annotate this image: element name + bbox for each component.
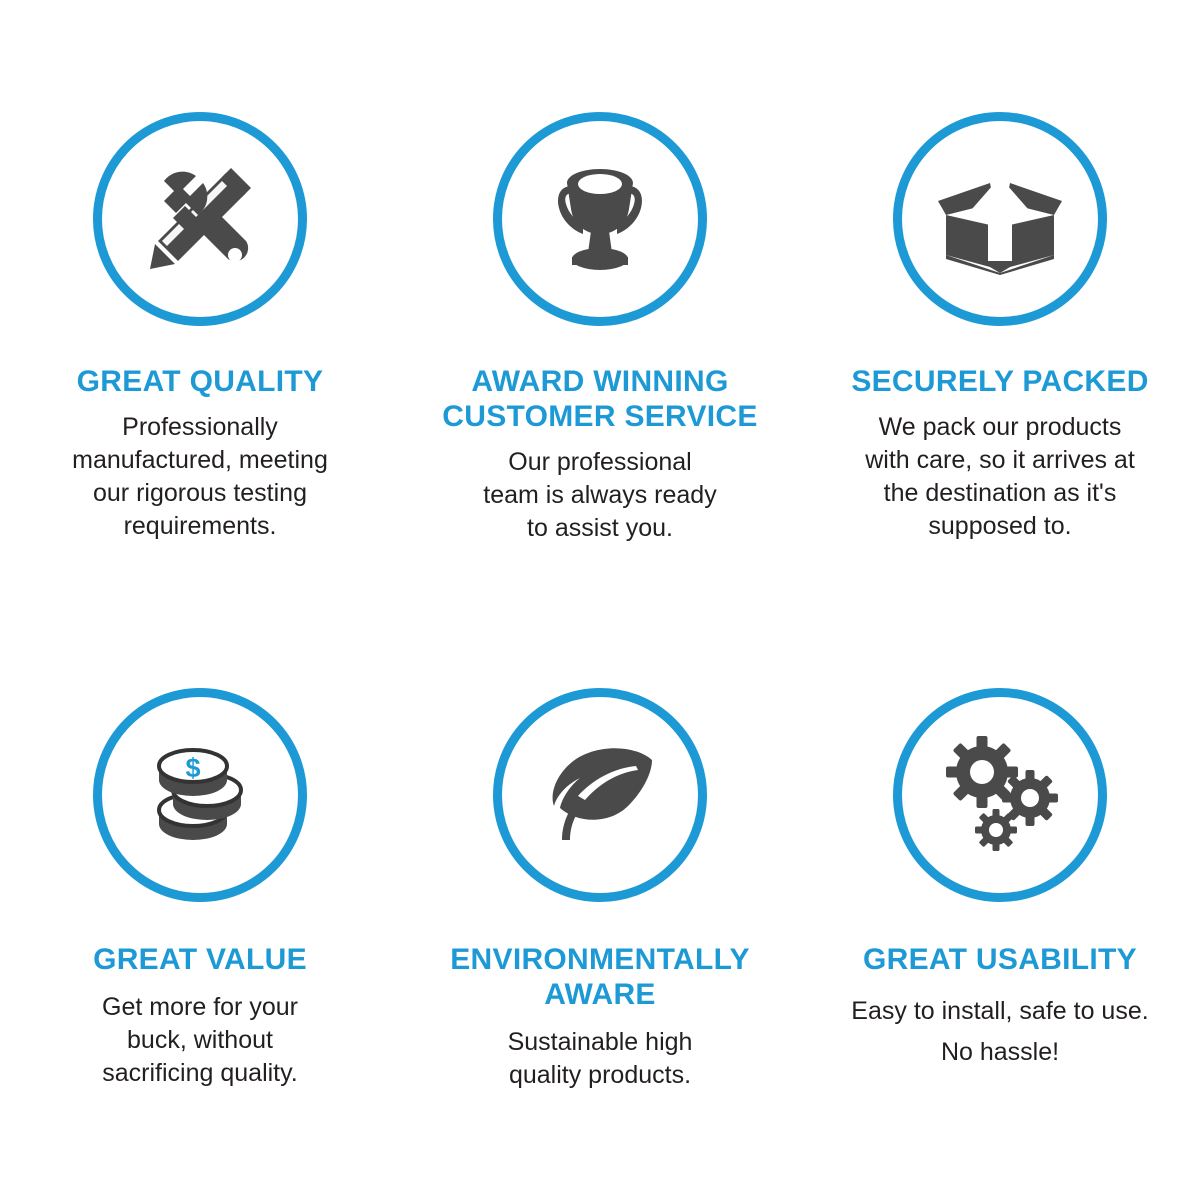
feature-grid: GREAT QUALITY Professionally manufacture… [0,0,1200,1200]
feature-title: SECURELY PACKED [830,364,1170,399]
feature-securely-packed: SECURELY PACKED We pack our products wit… [800,0,1200,600]
feature-title: AWARD WINNING CUSTOMER SERVICE [410,364,790,434]
open-box-icon [936,163,1064,275]
feature-great-value: $ GREAT VALUE Get more for your buck, wi… [0,600,400,1200]
badge-circle-environmentally-aware [493,688,707,902]
feature-great-quality: GREAT QUALITY Professionally manufacture… [0,0,400,600]
badge-circle-securely-packed [893,112,1107,326]
leaf-icon [540,740,660,850]
feature-description: Easy to install, safe to use. No hassle! [830,991,1170,1074]
wrench-and-pencil-icon [138,157,262,281]
trophy-icon [539,158,661,280]
feature-description: Professionally manufactured, meeting our… [40,411,360,543]
badge-circle-great-usability [893,688,1107,902]
feature-title: GREAT QUALITY [40,364,360,399]
feature-title: GREAT VALUE [40,942,360,977]
feature-award-winning-customer-service: AWARD WINNING CUSTOMER SERVICE Our profe… [400,0,800,600]
badge-circle-great-quality [93,112,307,326]
feature-environmentally-aware: ENVIRONMENTALLY AWARE Sustainable high q… [400,600,800,1200]
feature-description: Sustainable high quality products. [410,1026,790,1092]
feature-infographic: GREAT QUALITY Professionally manufacture… [0,0,1200,1200]
feature-title: GREAT USABILITY [830,942,1170,977]
feature-title: ENVIRONMENTALLY AWARE [410,942,790,1012]
feature-description: Our professional team is always ready to… [410,446,790,545]
feature-great-usability: GREAT USABILITY Easy to install, safe to… [800,600,1200,1200]
gears-icon [938,736,1062,854]
svg-text:$: $ [185,753,200,783]
stacked-coins-icon: $ [141,736,259,854]
badge-circle-great-value: $ [93,688,307,902]
feature-description: Get more for your buck, without sacrific… [40,991,360,1090]
badge-circle-award-winning [493,112,707,326]
feature-description: We pack our products with care, so it ar… [830,411,1170,543]
